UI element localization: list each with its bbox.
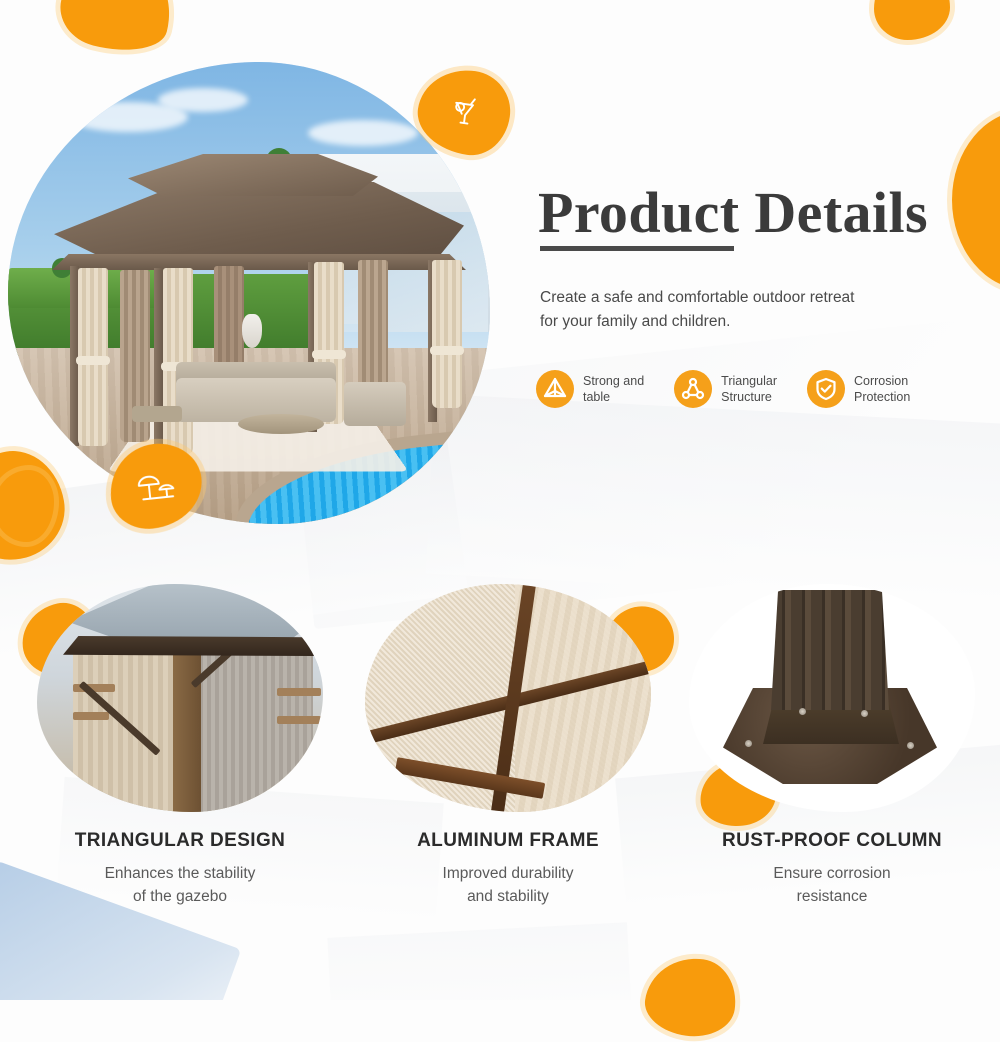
cocktail-drink-icon [441, 89, 486, 134]
page-subtitle: Create a safe and comfortable outdoor re… [540, 286, 870, 334]
detail-card-rust-proof-column: RUST-PROOF COLUMN Ensure corrosion resis… [676, 584, 988, 909]
detail-card-list: TRIANGULAR DESIGN Enhances the stability… [0, 584, 1000, 984]
feature-label: Triangular Structure [721, 373, 777, 405]
rust-proof-column-base-photo [689, 584, 975, 812]
page-title: Product Details [538, 184, 928, 242]
triangle-structure-icon [674, 370, 712, 408]
card-title: RUST-PROOF COLUMN [676, 830, 988, 852]
shield-check-icon [807, 370, 845, 408]
card-caption: Improved durability and stability [352, 862, 664, 909]
title-underline [540, 246, 734, 251]
hero-gazebo-photo [8, 62, 490, 524]
feature-item-corrosion-protection: Corrosion Protection [807, 370, 910, 408]
feature-label: Corrosion Protection [854, 373, 910, 405]
feature-label: Strong and table [583, 373, 644, 405]
card-caption: Enhances the stability of the gazebo [24, 862, 336, 909]
card-title: TRIANGULAR DESIGN [24, 830, 336, 852]
card-title: ALUMINUM FRAME [352, 830, 664, 852]
detail-card-triangular-design: TRIANGULAR DESIGN Enhances the stability… [24, 584, 336, 909]
feature-item-strong-table: Strong and table [536, 370, 644, 408]
aluminum-frame-ceiling-photo [365, 584, 651, 812]
beach-umbrella-icon [131, 464, 181, 509]
pyramid-icon [536, 370, 574, 408]
feature-list: Strong and table Triangular Structure [536, 370, 976, 408]
detail-card-aluminum-frame: ALUMINUM FRAME Improved durability and s… [352, 584, 664, 909]
feature-item-triangular-structure: Triangular Structure [674, 370, 777, 408]
gazebo-corner-triangular-brace-photo [37, 584, 323, 812]
card-caption: Ensure corrosion resistance [676, 862, 988, 909]
